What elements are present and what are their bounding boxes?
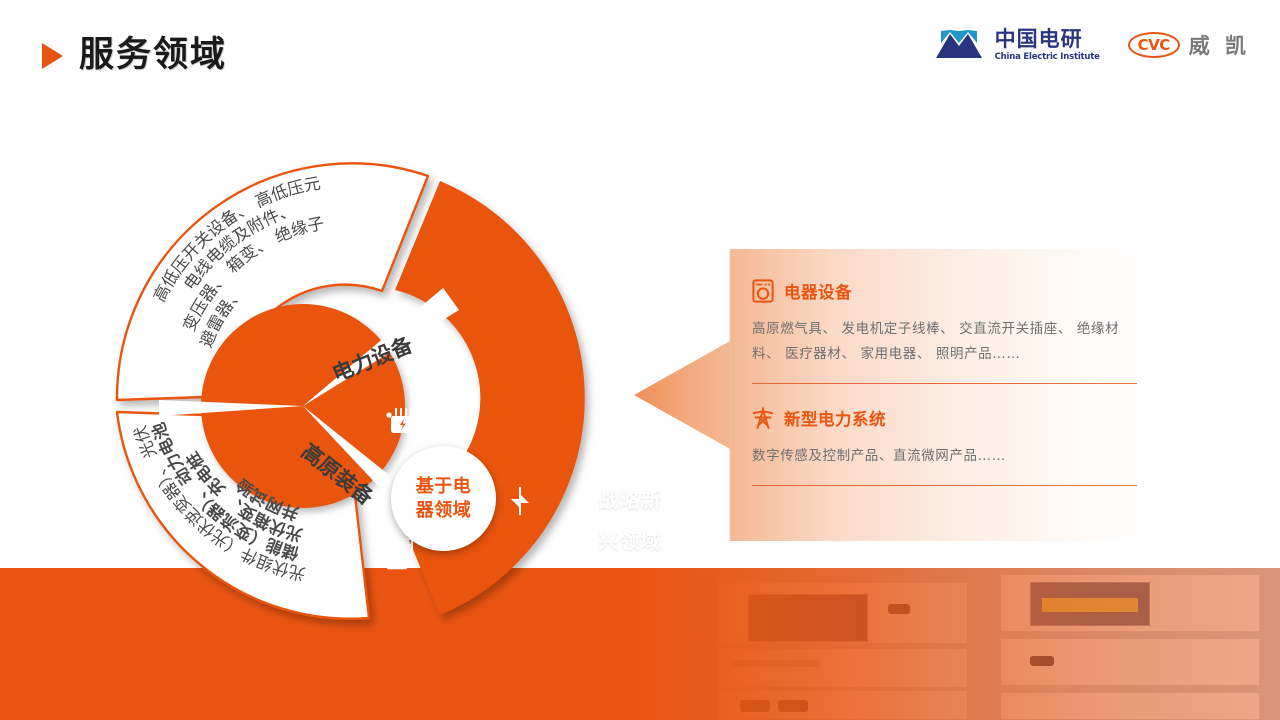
slide-root: 服务领域 中国电研 China Electric Institute CVC 威… <box>0 0 1280 720</box>
callout-panel: 电器设备 高原燃气具、 发电机定子线棒、 交直流开关插座、 绝缘材料、 医疗器材… <box>610 249 1155 541</box>
label-line2: 兴领域 <box>576 521 684 562</box>
logo-group: 中国电研 China Electric Institute CVC 威 凯 <box>932 28 1250 62</box>
triangle-right-icon <box>42 43 63 69</box>
callout-item-header: 新型电力系统 <box>752 406 1137 430</box>
solar-panel-icon <box>378 536 416 572</box>
donut-center: 基于电 器领域 <box>391 446 496 551</box>
service-donut-diagram: 高低压开关设备、 高低压元器件、 电线电缆及附件、 变压器、 箱变、 绝缘子、 … <box>95 128 635 608</box>
slide-header: 服务领域 中国电研 China Electric Institute CVC 威… <box>0 0 1280 110</box>
donut-center-line1: 基于电 <box>416 475 472 499</box>
callout-divider <box>752 383 1137 384</box>
logo-cvc-cn: 威 凯 <box>1189 30 1250 60</box>
callout-body: 电器设备 高原燃气具、 发电机定子线棒、 交直流开关插座、 绝缘材料、 医疗器材… <box>730 249 1155 541</box>
washing-machine-icon <box>752 279 774 303</box>
callout-item-appliance: 电器设备 高原燃气具、 发电机定子线棒、 交直流开关插座、 绝缘材料、 医疗器材… <box>752 279 1137 384</box>
segment-strategic-emerging-label: 战略新 兴领域 <box>576 480 684 562</box>
callout-divider <box>752 485 1137 486</box>
callout-item-title: 新型电力系统 <box>784 406 886 430</box>
callout-item-power-system: 新型电力系统 数字传感及控制产品、直流微网产品…… <box>752 406 1137 486</box>
callout-item-title: 电器设备 <box>784 279 852 303</box>
logo-cei-en: China Electric Institute <box>995 53 1100 62</box>
cvc-oval-icon: CVC <box>1128 32 1180 58</box>
page-title: 服务领域 <box>79 38 227 73</box>
donut-svg <box>95 128 635 608</box>
callout-item-text: 数字传感及控制产品、直流微网产品…… <box>752 444 1137 469</box>
logo-china-electric-institute: 中国电研 China Electric Institute <box>932 28 1100 62</box>
segment-strategic-emerging[interactable] <box>395 181 585 615</box>
transmission-tower-icon <box>752 406 774 430</box>
logo-cei-text: 中国电研 China Electric Institute <box>995 29 1100 62</box>
logo-cei-cn: 中国电研 <box>995 29 1100 50</box>
donut-center-line2: 器领域 <box>416 499 472 523</box>
logo-cvc: CVC 威 凯 <box>1128 30 1250 60</box>
title-group: 服务领域 <box>42 38 227 73</box>
callout-item-text: 高原燃气具、 发电机定子线棒、 交直流开关插座、 绝缘材料、 医疗器材、 家用电… <box>752 317 1137 367</box>
transformer-icon <box>383 404 423 440</box>
double-arrow-icon <box>507 485 535 517</box>
callout-item-header: 电器设备 <box>752 279 1137 303</box>
label-line1: 战略新 <box>576 480 684 521</box>
mountain-mark-icon <box>932 28 986 62</box>
callout-spacer <box>752 384 1137 406</box>
